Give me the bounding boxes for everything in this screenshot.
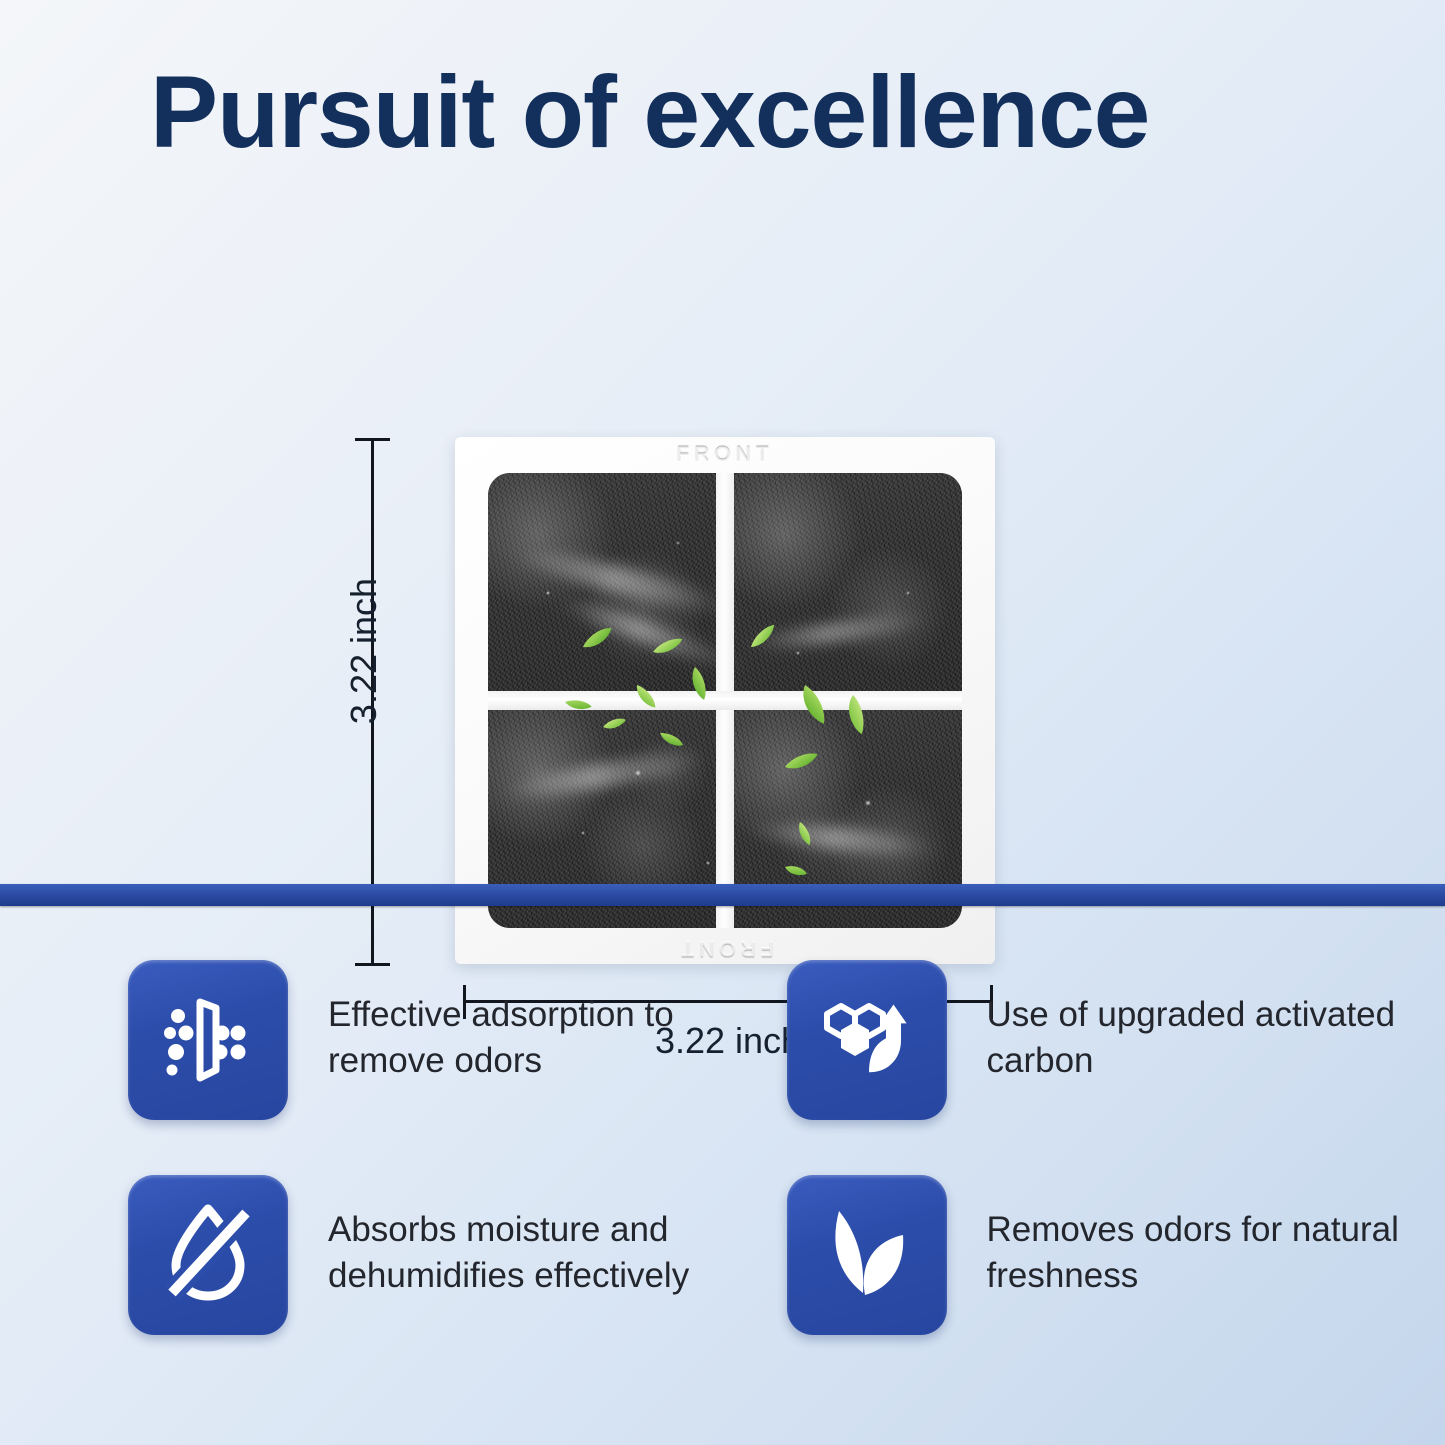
section-divider-bar — [0, 884, 1445, 906]
feature-label: Removes odors for natural freshness — [987, 1175, 1445, 1299]
height-dimension-label: 3.22 inch — [343, 561, 385, 741]
product-hero-section: 3.22 inch FRONT FRONT — [0, 200, 1445, 880]
page-title: Pursuit of excellence — [150, 54, 1149, 171]
height-dimension-cap-top — [355, 438, 390, 441]
feature-item-activated-carbon: Use of upgraded activated carbon — [787, 960, 1445, 1175]
no-moisture-droplet-icon — [156, 1201, 260, 1310]
front-label-bottom: FRONT — [455, 936, 995, 960]
filter-particles-icon — [156, 986, 260, 1095]
feature-item-moisture: Absorbs moisture and dehumidifies effect… — [128, 1175, 787, 1390]
feature-tile-4 — [787, 1175, 947, 1335]
feature-item-freshness: Removes odors for natural freshness — [787, 1175, 1445, 1390]
filter-divider-horizontal — [488, 691, 962, 710]
front-label-top: FRONT — [455, 443, 995, 467]
feature-tile-3 — [128, 1175, 288, 1335]
feature-label: Use of upgraded activated carbon — [987, 960, 1445, 1084]
feature-label: Effective adsorption to remove odors — [328, 960, 787, 1084]
feature-tile-2 — [787, 960, 947, 1120]
carbon-hexagon-arrow-icon — [815, 986, 919, 1095]
filter-media-area — [488, 473, 962, 928]
product-infographic-page: Pursuit of excellence 3.22 inch FRONT — [0, 0, 1445, 1445]
feature-tile-1 — [128, 960, 288, 1120]
filter-pad-top-left — [488, 473, 716, 691]
feature-grid: Effective adsorption to remove odors Use… — [0, 960, 1445, 1390]
feature-item-adsorption: Effective adsorption to remove odors — [128, 960, 787, 1175]
leaves-icon — [815, 1201, 919, 1310]
filter-pad-top-right — [734, 473, 962, 691]
feature-label: Absorbs moisture and dehumidifies effect… — [328, 1175, 787, 1299]
